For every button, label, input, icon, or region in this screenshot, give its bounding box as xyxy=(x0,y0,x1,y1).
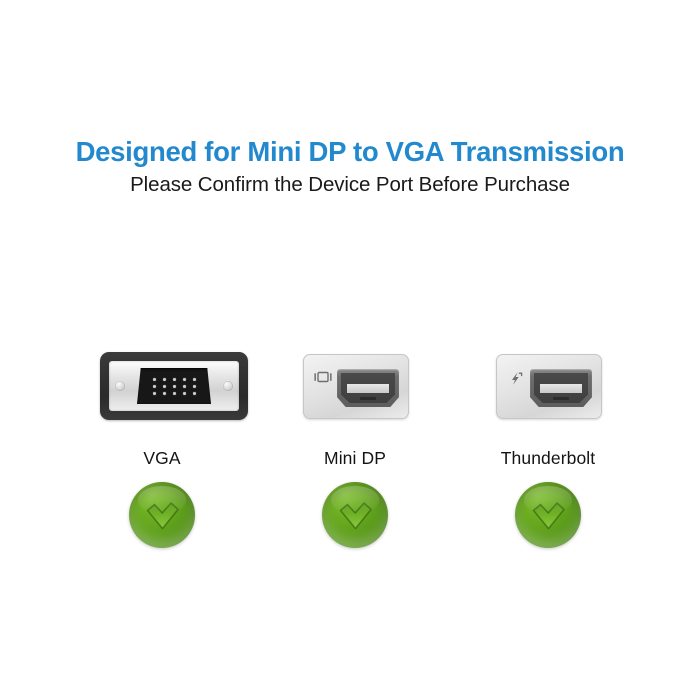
mini-dp-socket xyxy=(337,369,399,407)
thunderbolt-bolt-icon xyxy=(506,371,526,386)
mini-dp-socket-tab xyxy=(360,397,376,400)
thunderbolt-panel xyxy=(496,354,602,419)
port-label-vga: VGA xyxy=(62,448,262,469)
vga-pin xyxy=(153,392,156,395)
vga-pin xyxy=(153,378,156,381)
vga-pin xyxy=(183,378,186,381)
vga-pin xyxy=(163,385,166,388)
vga-pin xyxy=(153,385,156,388)
vga-connector-housing xyxy=(100,352,248,420)
displayport-icon xyxy=(313,371,333,386)
vga-pin xyxy=(173,392,176,395)
mini-dp-panel xyxy=(303,354,409,419)
port-illustration-vga xyxy=(62,340,262,428)
vga-shield-plate xyxy=(109,361,239,411)
green-check-icon xyxy=(515,482,581,548)
vga-pin xyxy=(193,385,196,388)
green-check-icon xyxy=(322,482,388,548)
vga-pin-row-bottom xyxy=(153,392,196,395)
vga-screw-right-icon xyxy=(223,381,233,391)
port-label-thunderbolt: Thunderbolt xyxy=(448,448,648,469)
badge-slot-vga: compatible xyxy=(62,482,262,562)
port-label-mini-dp: Mini DP xyxy=(255,448,455,469)
vga-pin xyxy=(193,392,196,395)
mini-dp-socket-contact-band xyxy=(347,384,389,393)
vga-pin xyxy=(183,392,186,395)
vga-screw-left-icon xyxy=(115,381,125,391)
badge-slot-thunderbolt: compatible xyxy=(448,482,648,562)
vga-pin xyxy=(163,392,166,395)
vga-pin-grid xyxy=(137,368,211,404)
vga-pin xyxy=(173,378,176,381)
vga-pin xyxy=(173,385,176,388)
vga-pin-row-middle xyxy=(153,385,196,388)
vga-dsub-icon xyxy=(137,368,211,404)
port-illustration-mini-dp xyxy=(255,340,455,428)
product-compatibility-graphic: Designed for Mini DP to VGA Transmission… xyxy=(0,0,700,700)
compatibility-badge-row: compatible compatible xyxy=(0,482,700,562)
vga-pin-row-top xyxy=(153,378,196,381)
vga-pin xyxy=(193,378,196,381)
page-subtitle: Please Confirm the Device Port Before Pu… xyxy=(0,173,700,197)
green-check-icon xyxy=(129,482,195,548)
badge-slot-mini-dp: compatible xyxy=(255,482,455,562)
port-illustration-thunderbolt xyxy=(448,340,648,428)
vga-pin xyxy=(183,385,186,388)
status-badge-thunderbolt: compatible xyxy=(515,482,581,548)
thunderbolt-socket-contact-band xyxy=(540,384,582,393)
thunderbolt-socket-tab xyxy=(553,397,569,400)
status-badge-mini-dp: compatible xyxy=(322,482,388,548)
mini-dp-socket-cavity xyxy=(341,373,395,403)
vga-pin xyxy=(163,378,166,381)
thunderbolt-socket-cavity xyxy=(534,373,588,403)
status-badge-vga: compatible xyxy=(129,482,195,548)
page-title: Designed for Mini DP to VGA Transmission xyxy=(0,136,700,168)
thunderbolt-socket xyxy=(530,369,592,407)
